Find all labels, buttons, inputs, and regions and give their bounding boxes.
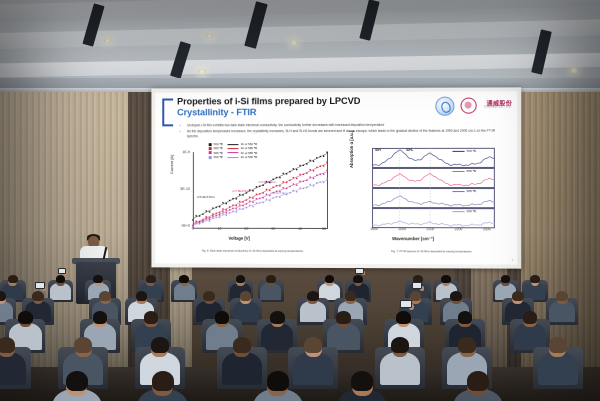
audience-member-hair — [66, 371, 88, 391]
audience-member-hair — [152, 371, 174, 391]
audience-member-hair — [450, 291, 462, 301]
audience-member-hair — [99, 291, 111, 301]
audience-member-hair — [56, 275, 66, 283]
audience-member-hair — [501, 275, 511, 283]
audience-member-hair — [467, 371, 489, 391]
audience-member-hair — [345, 291, 357, 301]
audience-member-hair — [215, 311, 230, 324]
audience-member-hair — [93, 275, 103, 283]
audience-member-hair — [353, 275, 363, 283]
audience-member-body — [514, 323, 546, 350]
audience-member-hair — [441, 275, 451, 283]
audience-member-hair — [144, 311, 159, 324]
audience-member-hair — [304, 337, 322, 353]
audience-member-hair — [32, 291, 44, 301]
audience-member-hair — [0, 291, 6, 301]
audience-member-hair — [0, 337, 15, 353]
audience-member-hair — [523, 311, 538, 324]
audience-member-hair — [267, 371, 289, 391]
audience-member-hair — [266, 275, 276, 283]
audience-member-hair — [146, 275, 156, 283]
audience-member-hair — [240, 291, 252, 301]
audience-member-hair — [8, 275, 18, 283]
audience-member-hair — [458, 311, 473, 324]
audience-member-hair — [179, 275, 189, 283]
audience-member-hair — [74, 337, 92, 353]
audience-member-hair — [307, 291, 319, 301]
audience-member-hair — [151, 337, 169, 353]
audience-member-hair — [396, 311, 411, 324]
audience-member-body — [300, 301, 326, 323]
audience-member-hair — [136, 291, 148, 301]
conference-room-scene: Properties of i-Si films prepared by LPC… — [0, 0, 600, 401]
audience-member-hair — [391, 337, 409, 353]
audience-member-hair — [233, 337, 251, 353]
smartphone-icon[interactable] — [400, 300, 412, 308]
audience-member-hair — [203, 291, 215, 301]
audience-member-hair — [556, 291, 568, 301]
audience-member-hair — [458, 337, 476, 353]
audience — [0, 0, 600, 401]
smartphone-icon[interactable] — [355, 268, 363, 274]
audience-member-hair — [270, 311, 285, 324]
audience-member-hair — [325, 275, 335, 283]
smartphone-icon[interactable] — [412, 282, 422, 289]
audience-member-hair — [549, 337, 567, 353]
audience-member-hair — [512, 291, 524, 301]
audience-member-body — [261, 323, 293, 350]
audience-member-hair — [18, 311, 33, 324]
audience-member-hair — [236, 275, 246, 283]
audience-member-body — [327, 323, 359, 350]
smartphone-icon[interactable] — [58, 268, 66, 274]
audience-member-hair — [336, 311, 351, 324]
audience-member-hair — [351, 371, 373, 391]
audience-member-hair — [530, 275, 540, 283]
audience-member-body — [549, 301, 575, 323]
smartphone-icon[interactable] — [35, 282, 45, 289]
audience-member-hair — [93, 311, 108, 324]
